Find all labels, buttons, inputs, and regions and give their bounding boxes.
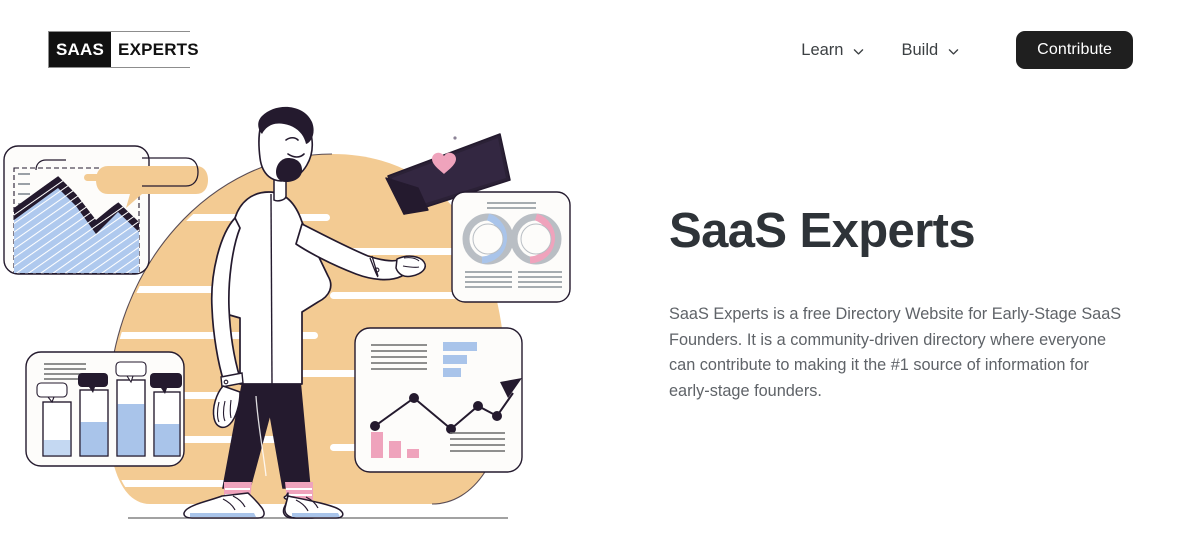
hero-copy: SaaS Experts SaaS Experts is a free Dire… [669, 205, 1139, 405]
page-root: SAAS EXPERTS Learn Build Contribute SaaS… [0, 0, 1181, 542]
logo-text-experts: EXPERTS [111, 32, 206, 67]
site-logo[interactable]: SAAS EXPERTS [48, 31, 190, 68]
logo-text-saas: SAAS [49, 32, 111, 67]
main-nav: Learn Build Contribute [783, 31, 1133, 69]
area-chart-card [4, 146, 149, 274]
donut-chart-card [452, 192, 570, 302]
nav-item-build-label: Build [901, 41, 938, 60]
bar-chart-card [26, 352, 184, 466]
nav-item-learn[interactable]: Learn [783, 41, 883, 60]
contribute-button[interactable]: Contribute [1016, 31, 1133, 69]
hero-description: SaaS Experts is a free Directory Website… [669, 302, 1131, 405]
chevron-down-icon [947, 45, 960, 58]
hero-illustration [0, 96, 620, 542]
nav-item-build[interactable]: Build [883, 41, 978, 60]
illustration-svg [0, 96, 620, 542]
chevron-down-icon [852, 45, 865, 58]
site-header: SAAS EXPERTS Learn Build Contribute [0, 0, 1181, 100]
line-chart-card [355, 328, 522, 472]
nav-item-learn-label: Learn [801, 41, 843, 60]
page-title: SaaS Experts [669, 205, 1139, 258]
